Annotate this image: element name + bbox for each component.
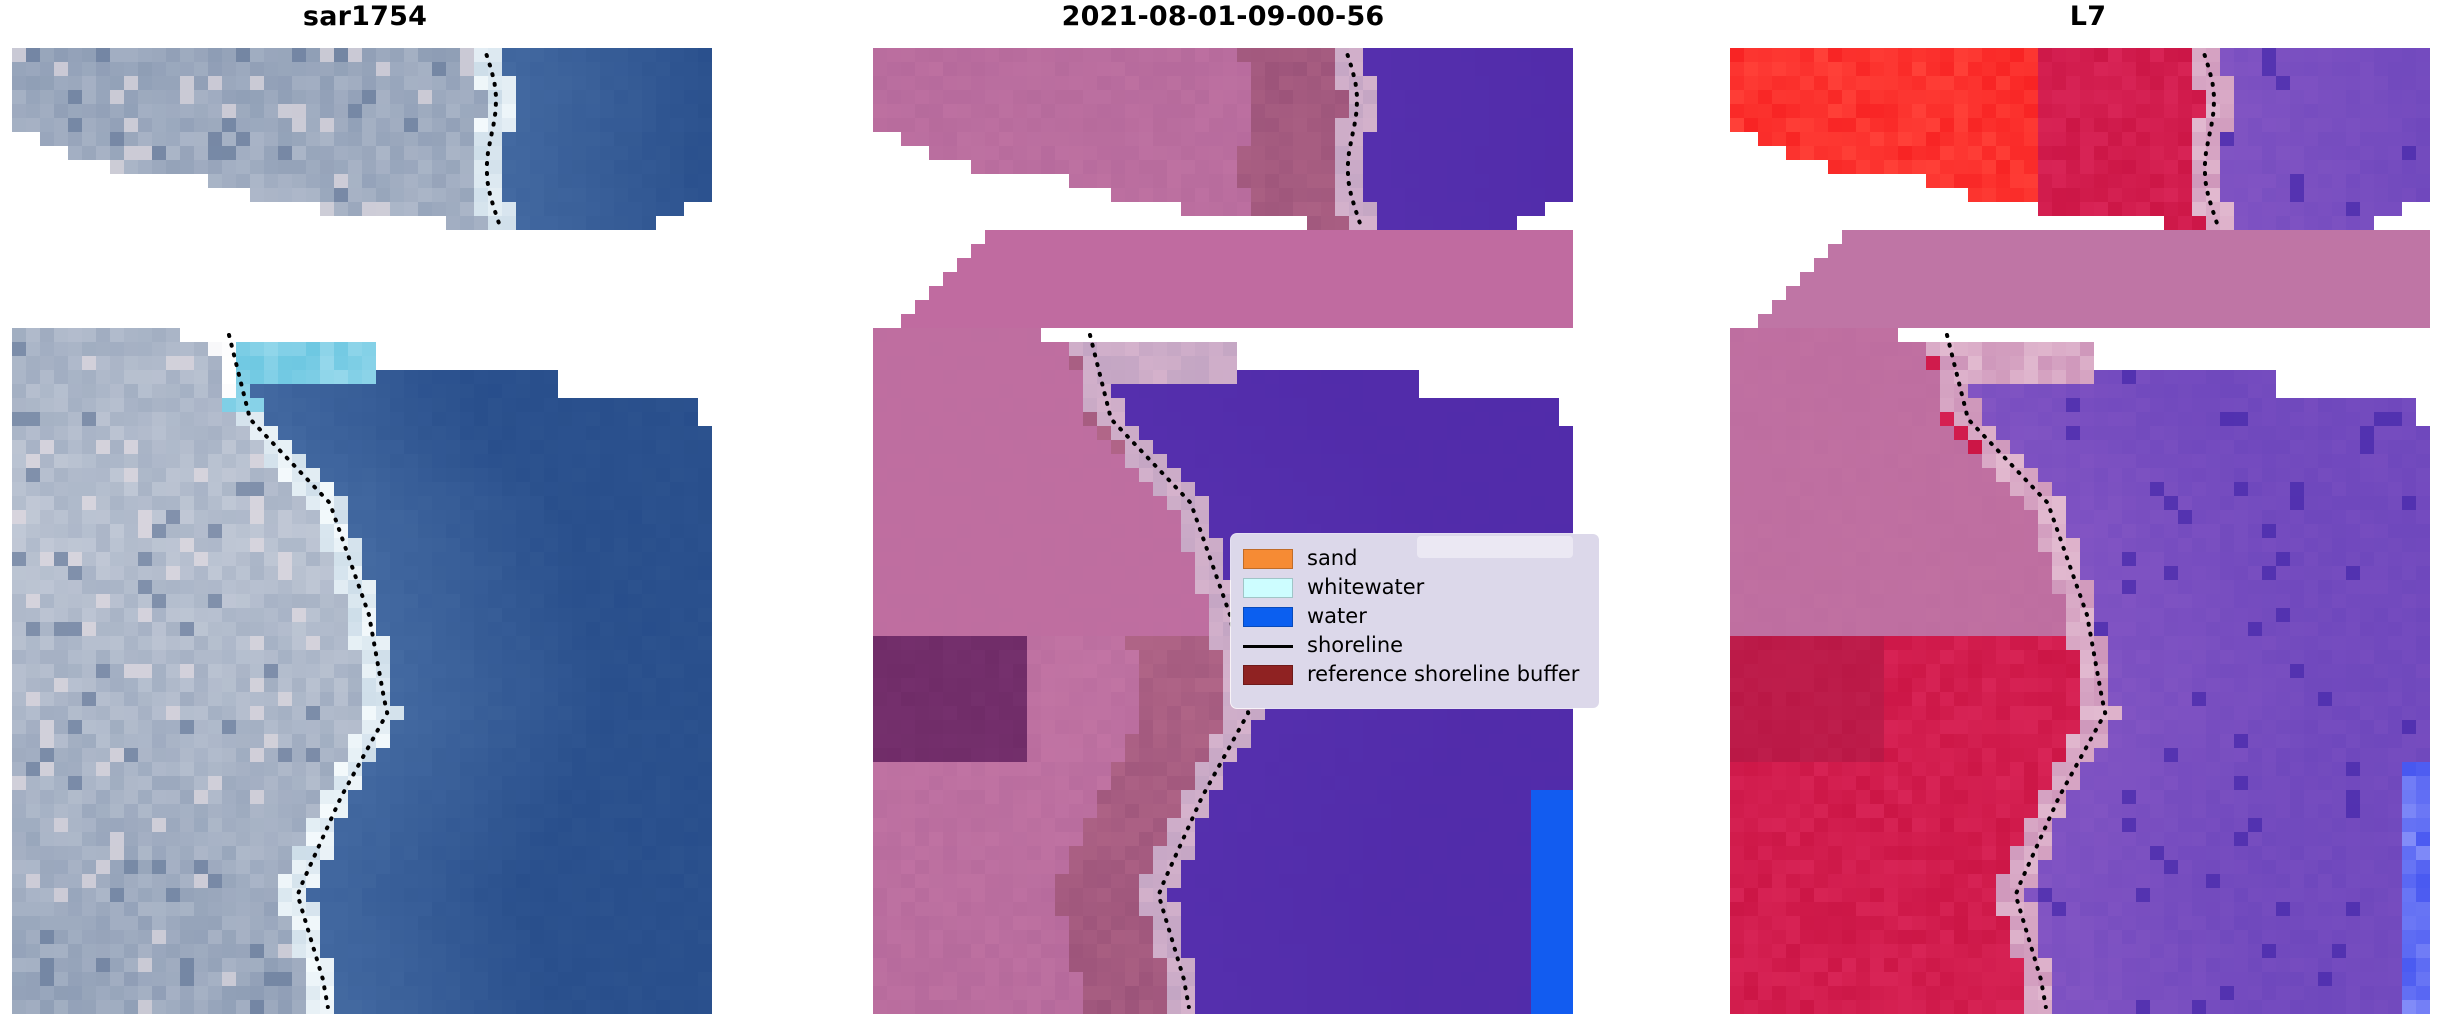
legend-item-reference-shoreline-buffer[interactable]: reference shoreline buffer (1243, 660, 1587, 689)
axes-classification[interactable] (873, 48, 1588, 1015)
panel-title-classification: 2021-08-01-09-00-56 (858, 0, 1588, 34)
water-swatch (1243, 607, 1293, 627)
panel-sar1754: sar1754 (0, 0, 730, 1015)
legend-highlight (1417, 536, 1573, 558)
axes-l7[interactable] (1730, 48, 2460, 1015)
legend-item-whitewater[interactable]: whitewater (1243, 573, 1587, 602)
panel-classification: 2021-08-01-09-00-56 (858, 0, 1588, 1015)
legend-label-whitewater: whitewater (1307, 577, 1424, 598)
legend-label-reference-shoreline-buffer: reference shoreline buffer (1307, 664, 1579, 685)
legend: sand whitewater water shoreline referenc… (1231, 534, 1599, 708)
figure-canvas: sar1754 2021-08-01-09-00-56 L7 sand whit… (0, 0, 2460, 1015)
panel-l7: L7 (1716, 0, 2460, 1015)
legend-item-shoreline[interactable]: shoreline (1243, 631, 1587, 660)
legend-label-water: water (1307, 606, 1367, 627)
legend-label-sand: sand (1307, 548, 1357, 569)
whitewater-swatch (1243, 578, 1293, 598)
axes-sar1754[interactable] (12, 48, 712, 1015)
legend-item-water[interactable]: water (1243, 602, 1587, 631)
reference-shoreline-buffer-swatch (1243, 665, 1293, 685)
panel-title-l7: L7 (1716, 0, 2460, 34)
sand-swatch (1243, 549, 1293, 569)
legend-label-shoreline: shoreline (1307, 635, 1403, 656)
shoreline-line-swatch (1243, 636, 1293, 656)
panel-title-sar1754: sar1754 (0, 0, 730, 34)
